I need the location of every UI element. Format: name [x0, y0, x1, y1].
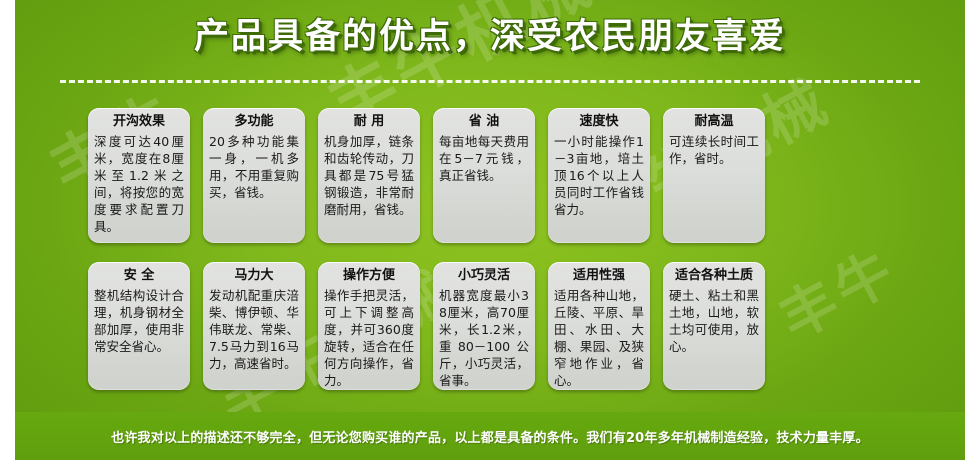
feature-card-body: 20多种功能集一身，一机多用，不用重复购买，省钱。	[209, 133, 299, 201]
feature-card-body: 深度可达40厘米，宽度在8厘米至1.2米之间，将按您的宽度要求配置刀具。	[94, 133, 184, 235]
feature-card-title: 开沟效果	[94, 115, 184, 130]
feature-card-body: 适用各种山地，丘陵、平原、旱田、水田、大棚、果园、及狭窄地作业，省心。	[554, 287, 644, 389]
poster-root: 丰牛 丰牛机械 丰牛机械 丰牛机械 丰牛 产品具备的优点，深受农民朋友喜爱 开沟…	[0, 0, 980, 460]
feature-card-body: 操作手把灵活，可上下调整高度，并可360度旋转，适合在任何方向操作，省力。	[324, 287, 414, 389]
feature-card: 小巧灵活 机器宽度最小38厘米，高70厘米，长1.2米，重80－100公斤，小巧…	[433, 262, 535, 390]
feature-card-title: 耐高温	[669, 115, 759, 130]
feature-card: 耐高温 可连续长时间工作，省时。	[663, 108, 765, 243]
feature-card-grid: 开沟效果 深度可达40厘米，宽度在8厘米至1.2米之间，将按您的宽度要求配置刀具…	[88, 108, 894, 390]
feature-card: 马力大 发动机配重庆涪柴、博伊顿、华伟联龙、常柴、7.5马力到16马力，高速省时…	[203, 262, 305, 390]
feature-card-title: 安 全	[94, 269, 184, 284]
feature-card: 适合各种土质 硬土、粘土和黑土地，山地，软土均可使用，放心。	[663, 262, 765, 390]
feature-card: 多功能 20多种功能集一身，一机多用，不用重复购买，省钱。	[203, 108, 305, 243]
feature-card-body: 硬土、粘土和黑土地，山地，软土均可使用，放心。	[669, 287, 759, 355]
feature-card-body: 机身加厚，链条和齿轮传动，刀具都是75号猛钢锻造，非常耐磨耐用，省钱。	[324, 133, 414, 218]
feature-card-title: 速度快	[554, 115, 644, 130]
feature-card-title: 适用性强	[554, 269, 644, 284]
footer-bar: 也许我对以上的描述还不够完全，但无论您购买谁的产品，以上都是具备的条件。我们有2…	[15, 412, 965, 460]
feature-card-body: 可连续长时间工作，省时。	[669, 133, 759, 167]
feature-card-title: 省 油	[439, 115, 529, 130]
feature-card-body: 机器宽度最小38厘米，高70厘米，长1.2米，重80－100公斤，小巧灵活，省事…	[439, 287, 529, 389]
feature-card-body: 发动机配重庆涪柴、博伊顿、华伟联龙、常柴、7.5马力到16马力，高速省时。	[209, 287, 299, 372]
feature-card-title: 适合各种土质	[669, 269, 759, 284]
feature-card: 操作方便 操作手把灵活，可上下调整高度，并可360度旋转，适合在任何方向操作，省…	[318, 262, 420, 390]
feature-card: 耐 用 机身加厚，链条和齿轮传动，刀具都是75号猛钢锻造，非常耐磨耐用，省钱。	[318, 108, 420, 243]
feature-card-title: 马力大	[209, 269, 299, 284]
page-title: 产品具备的优点，深受农民朋友喜爱	[194, 18, 786, 57]
feature-row-1: 开沟效果 深度可达40厘米，宽度在8厘米至1.2米之间，将按您的宽度要求配置刀具…	[88, 108, 894, 243]
feature-card: 开沟效果 深度可达40厘米，宽度在8厘米至1.2米之间，将按您的宽度要求配置刀具…	[88, 108, 190, 243]
feature-card-title: 耐 用	[324, 115, 414, 130]
feature-row-2: 安 全 整机结构设计合理，机身钢材全部加厚，使用非常安全省心。 马力大 发动机配…	[88, 262, 894, 390]
feature-card: 安 全 整机结构设计合理，机身钢材全部加厚，使用非常安全省心。	[88, 262, 190, 390]
feature-card-title: 多功能	[209, 115, 299, 130]
feature-card: 速度快 一小时能操作1－3亩地，培土顶16个以上人员同时工作省钱省力。	[548, 108, 650, 243]
feature-card: 省 油 每亩地每天费用在5－7元钱，真正省钱。	[433, 108, 535, 243]
feature-card-body: 一小时能操作1－3亩地，培土顶16个以上人员同时工作省钱省力。	[554, 133, 644, 218]
feature-card-title: 小巧灵活	[439, 269, 529, 284]
feature-card-title: 操作方便	[324, 269, 414, 284]
feature-card: 适用性强 适用各种山地，丘陵、平原、旱田、水田、大棚、果园、及狭窄地作业，省心。	[548, 262, 650, 390]
footer-text: 也许我对以上的描述还不够完全，但无论您购买谁的产品，以上都是具备的条件。我们有2…	[111, 427, 869, 446]
title-container: 产品具备的优点，深受农民朋友喜爱	[15, 18, 965, 57]
title-divider	[60, 80, 920, 83]
feature-card-body: 每亩地每天费用在5－7元钱，真正省钱。	[439, 133, 529, 184]
feature-card-body: 整机结构设计合理，机身钢材全部加厚，使用非常安全省心。	[94, 287, 184, 355]
